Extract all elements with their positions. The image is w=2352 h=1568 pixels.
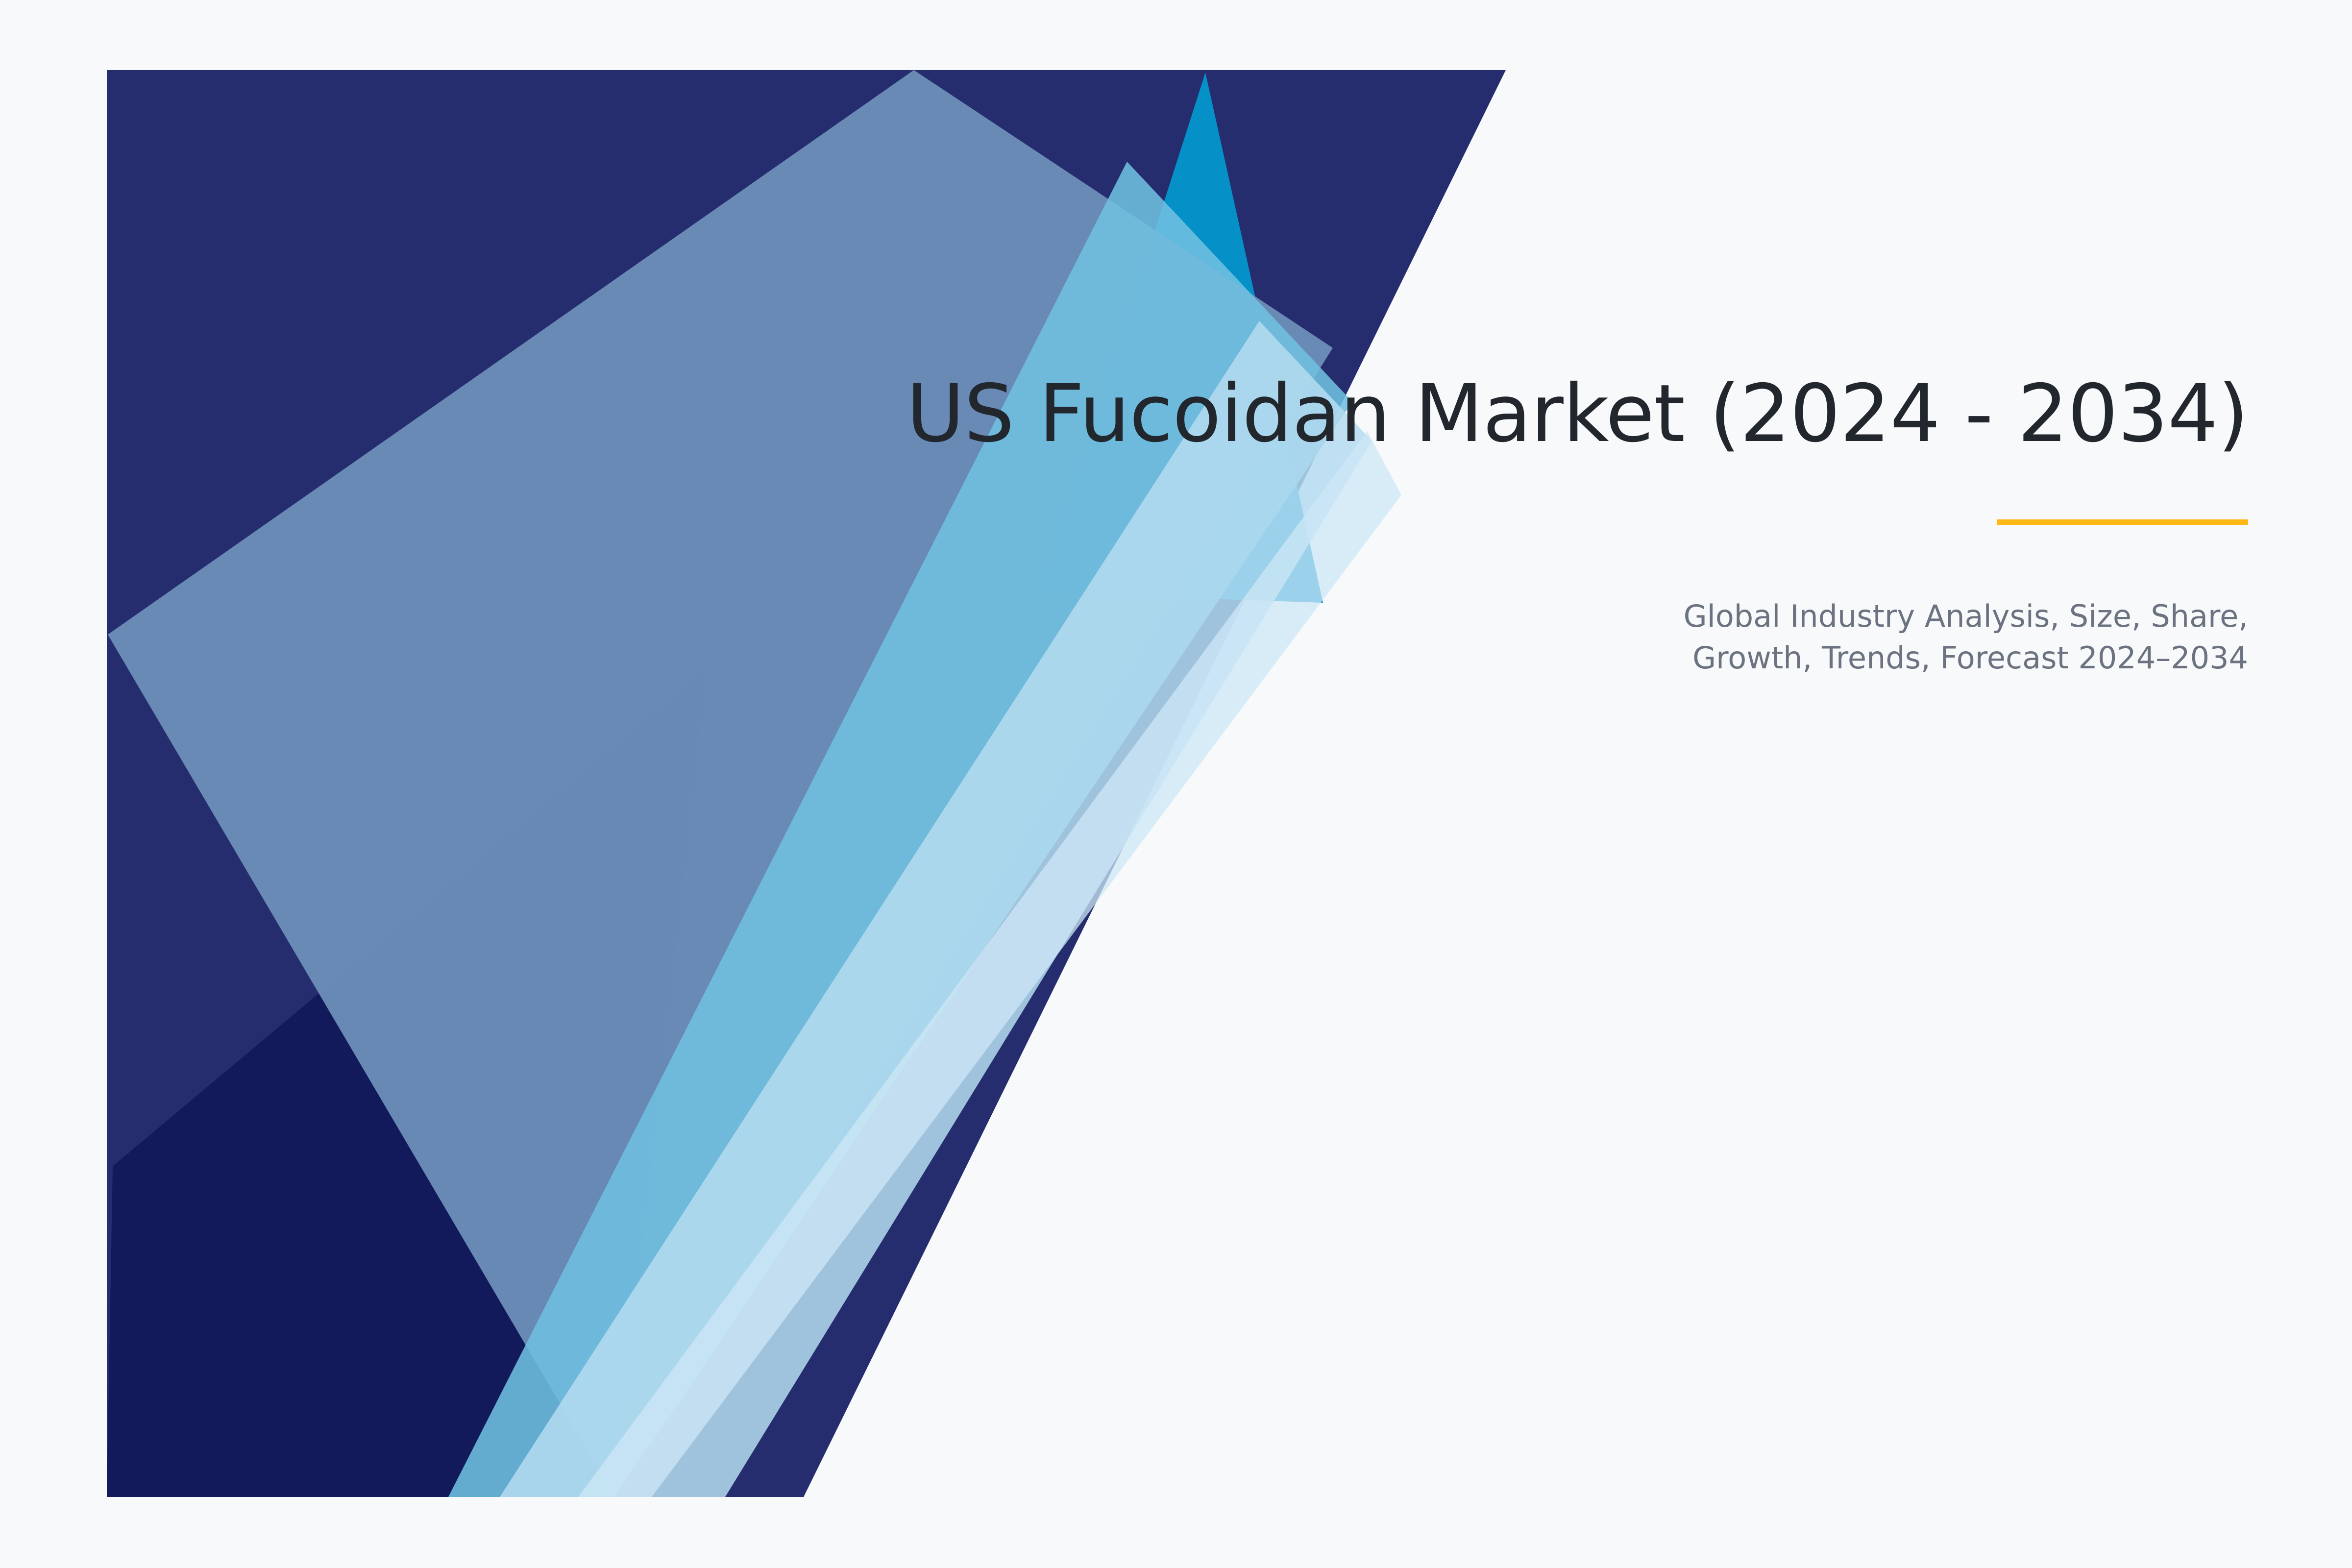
report-cover: US Fucoidan Market (2024 - 2034) Global …: [0, 0, 2352, 1568]
cover-text-block: US Fucoidan Market (2024 - 2034) Global …: [784, 372, 2248, 710]
page-subtitle: Global Industry Analysis, Size, Share, G…: [1601, 595, 2248, 679]
page-title: US Fucoidan Market (2024 - 2034): [784, 372, 2248, 457]
accent-rule-container: [784, 519, 2248, 525]
abstract-polygon-artwork: [0, 0, 2352, 1568]
accent-rule: [1997, 519, 2248, 525]
artwork-shape-group: [107, 70, 1506, 1497]
